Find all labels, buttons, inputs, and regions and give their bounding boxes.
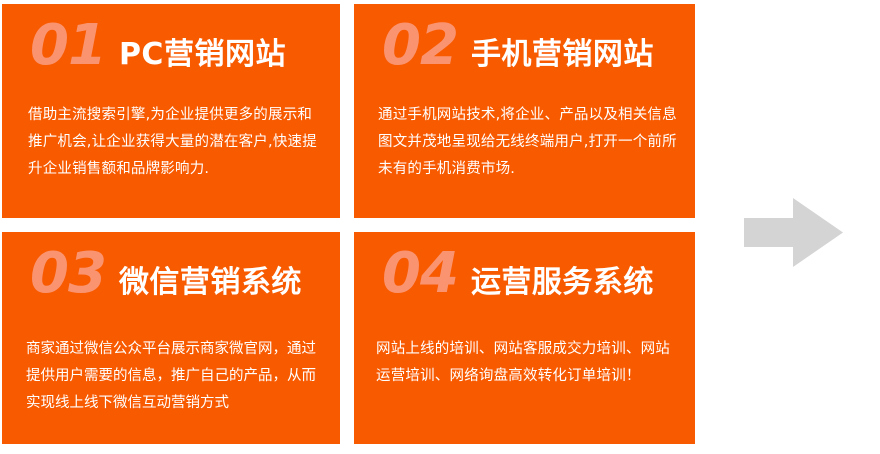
feature-card-02[interactable]: 02 手机营销网站 通过手机网站技术,将企业、产品以及相关信息图文并茂地呈现给无…: [354, 4, 695, 218]
feature-cards-grid: 01 PC营销网站 借助主流搜索引擎,为企业提供更多的展示和推广机会,让企业获得…: [2, 4, 695, 444]
card-number: 01: [2, 18, 106, 74]
card-title: 手机营销网站: [471, 38, 654, 72]
arrow-right-icon: [744, 198, 843, 267]
card-title: PC营销网站: [119, 38, 286, 72]
card-number: 03: [2, 246, 106, 302]
card-description: 通过手机网站技术,将企业、产品以及相关信息图文并茂地呈现给无线终端用户,打开一个…: [378, 102, 677, 183]
card-header: 04 运营服务系统: [354, 246, 695, 316]
feature-card-04[interactable]: 04 运营服务系统 网站上线的培训、网站客服成交力培训、网站运营培训、网络询盘高…: [354, 232, 695, 444]
card-title: 微信营销系统: [119, 266, 302, 300]
card-number: 02: [354, 18, 458, 74]
card-header: 01 PC营销网站: [2, 18, 340, 88]
card-header: 03 微信营销系统: [2, 246, 340, 316]
card-description: 借助主流搜索引擎,为企业提供更多的展示和推广机会,让企业获得大量的潜在客户,快速…: [28, 102, 320, 183]
card-description: 网站上线的培训、网站客服成交力培训、网站运营培训、网络询盘高效转化订单培训！: [376, 336, 679, 390]
feature-card-03[interactable]: 03 微信营销系统 商家通过微信公众平台展示商家微官网，通过提供用户需要的信息，…: [2, 232, 340, 444]
card-number: 04: [354, 246, 458, 302]
feature-card-01[interactable]: 01 PC营销网站 借助主流搜索引擎,为企业提供更多的展示和推广机会,让企业获得…: [2, 4, 340, 218]
card-title: 运营服务系统: [471, 266, 654, 300]
card-header: 02 手机营销网站: [354, 18, 695, 88]
card-description: 商家通过微信公众平台展示商家微官网，通过提供用户需要的信息，推广自己的产品，从而…: [26, 336, 322, 417]
